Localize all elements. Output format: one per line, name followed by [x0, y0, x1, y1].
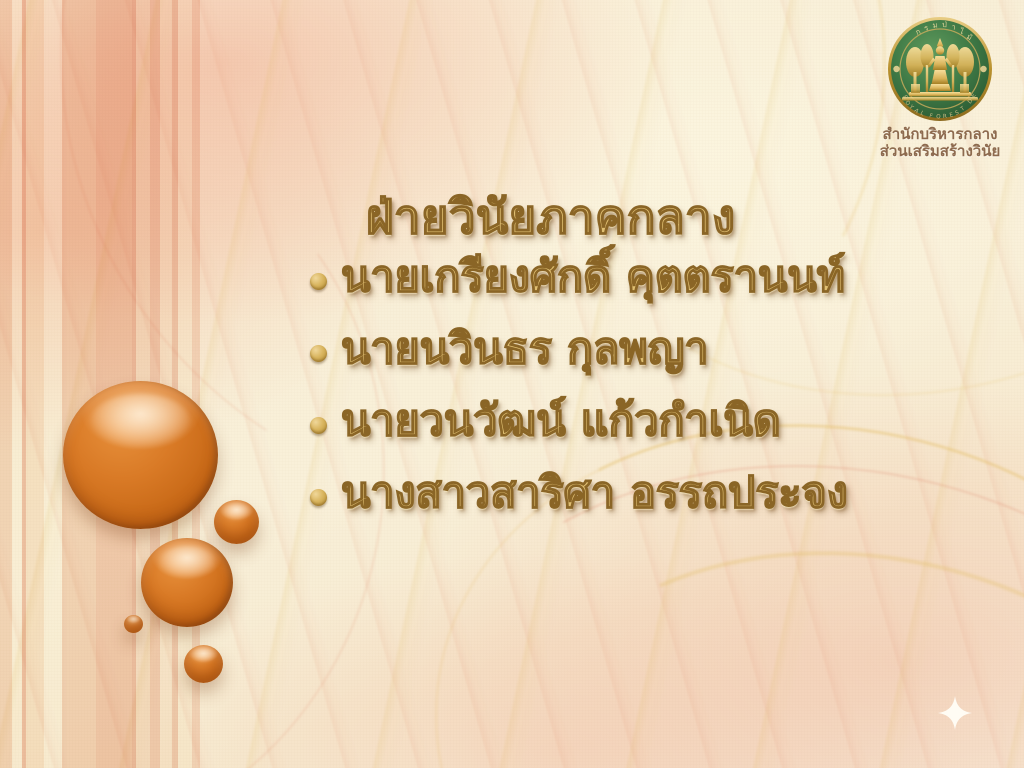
member-list: นายเกรียงศักดิ์ คุตตรานนท์ นายนวินธร กุล… — [310, 251, 930, 529]
member-name: นางสาวสาริศา อรรถประจง — [341, 467, 848, 519]
member-name: นายวนวัฒน์ แก้วกำเนิด — [341, 395, 781, 447]
list-item: นางสาวสาริศา อรรถประจง — [310, 467, 930, 529]
presentation-slide: ก ร ม ป่ า ไ ม้ R O Y A L F O R — [0, 0, 1024, 768]
logo-caption-line-2: ส่วนเสริมสร้างวินัย — [874, 143, 1006, 160]
sparkle-star-icon — [938, 696, 972, 730]
list-item: นายนวินธร กุลพญา — [310, 323, 930, 385]
organization-logo: ก ร ม ป่ า ไ ม้ R O Y A L F O R — [874, 16, 1006, 161]
svg-text:ป่: ป่ — [942, 20, 947, 29]
member-name: นายนวินธร กุลพญา — [341, 323, 709, 375]
droplet-medium — [141, 538, 233, 627]
slide-title: ฝ่ายวินัยภาคกลาง — [366, 192, 930, 245]
bullet-dot-icon — [310, 273, 327, 290]
royal-forest-department-seal-icon: ก ร ม ป่ า ไ ม้ R O Y A L F O R — [887, 16, 993, 122]
list-item: นายวนวัฒน์ แก้วกำเนิด — [310, 395, 930, 457]
member-name: นายเกรียงศักดิ์ คุตตรานนท์ — [341, 251, 845, 303]
droplet-small-lower — [184, 645, 223, 683]
slide-content: ฝ่ายวินัยภาคกลาง นายเกรียงศักดิ์ คุตตราน… — [310, 192, 930, 539]
droplet-small-upper — [214, 500, 259, 544]
list-item: นายเกรียงศักดิ์ คุตตรานนท์ — [310, 251, 930, 313]
svg-text:R: R — [943, 114, 947, 120]
logo-caption-line-1: สำนักบริหารกลาง — [874, 126, 1006, 143]
droplet-tiny — [124, 615, 143, 633]
droplet-large — [63, 381, 218, 529]
logo-caption: สำนักบริหารกลาง ส่วนเสริมสร้างวินัย — [874, 126, 1006, 161]
bullet-dot-icon — [310, 417, 327, 434]
bullet-dot-icon — [310, 489, 327, 506]
bullet-dot-icon — [310, 345, 327, 362]
vertical-stripe-band — [0, 0, 200, 768]
